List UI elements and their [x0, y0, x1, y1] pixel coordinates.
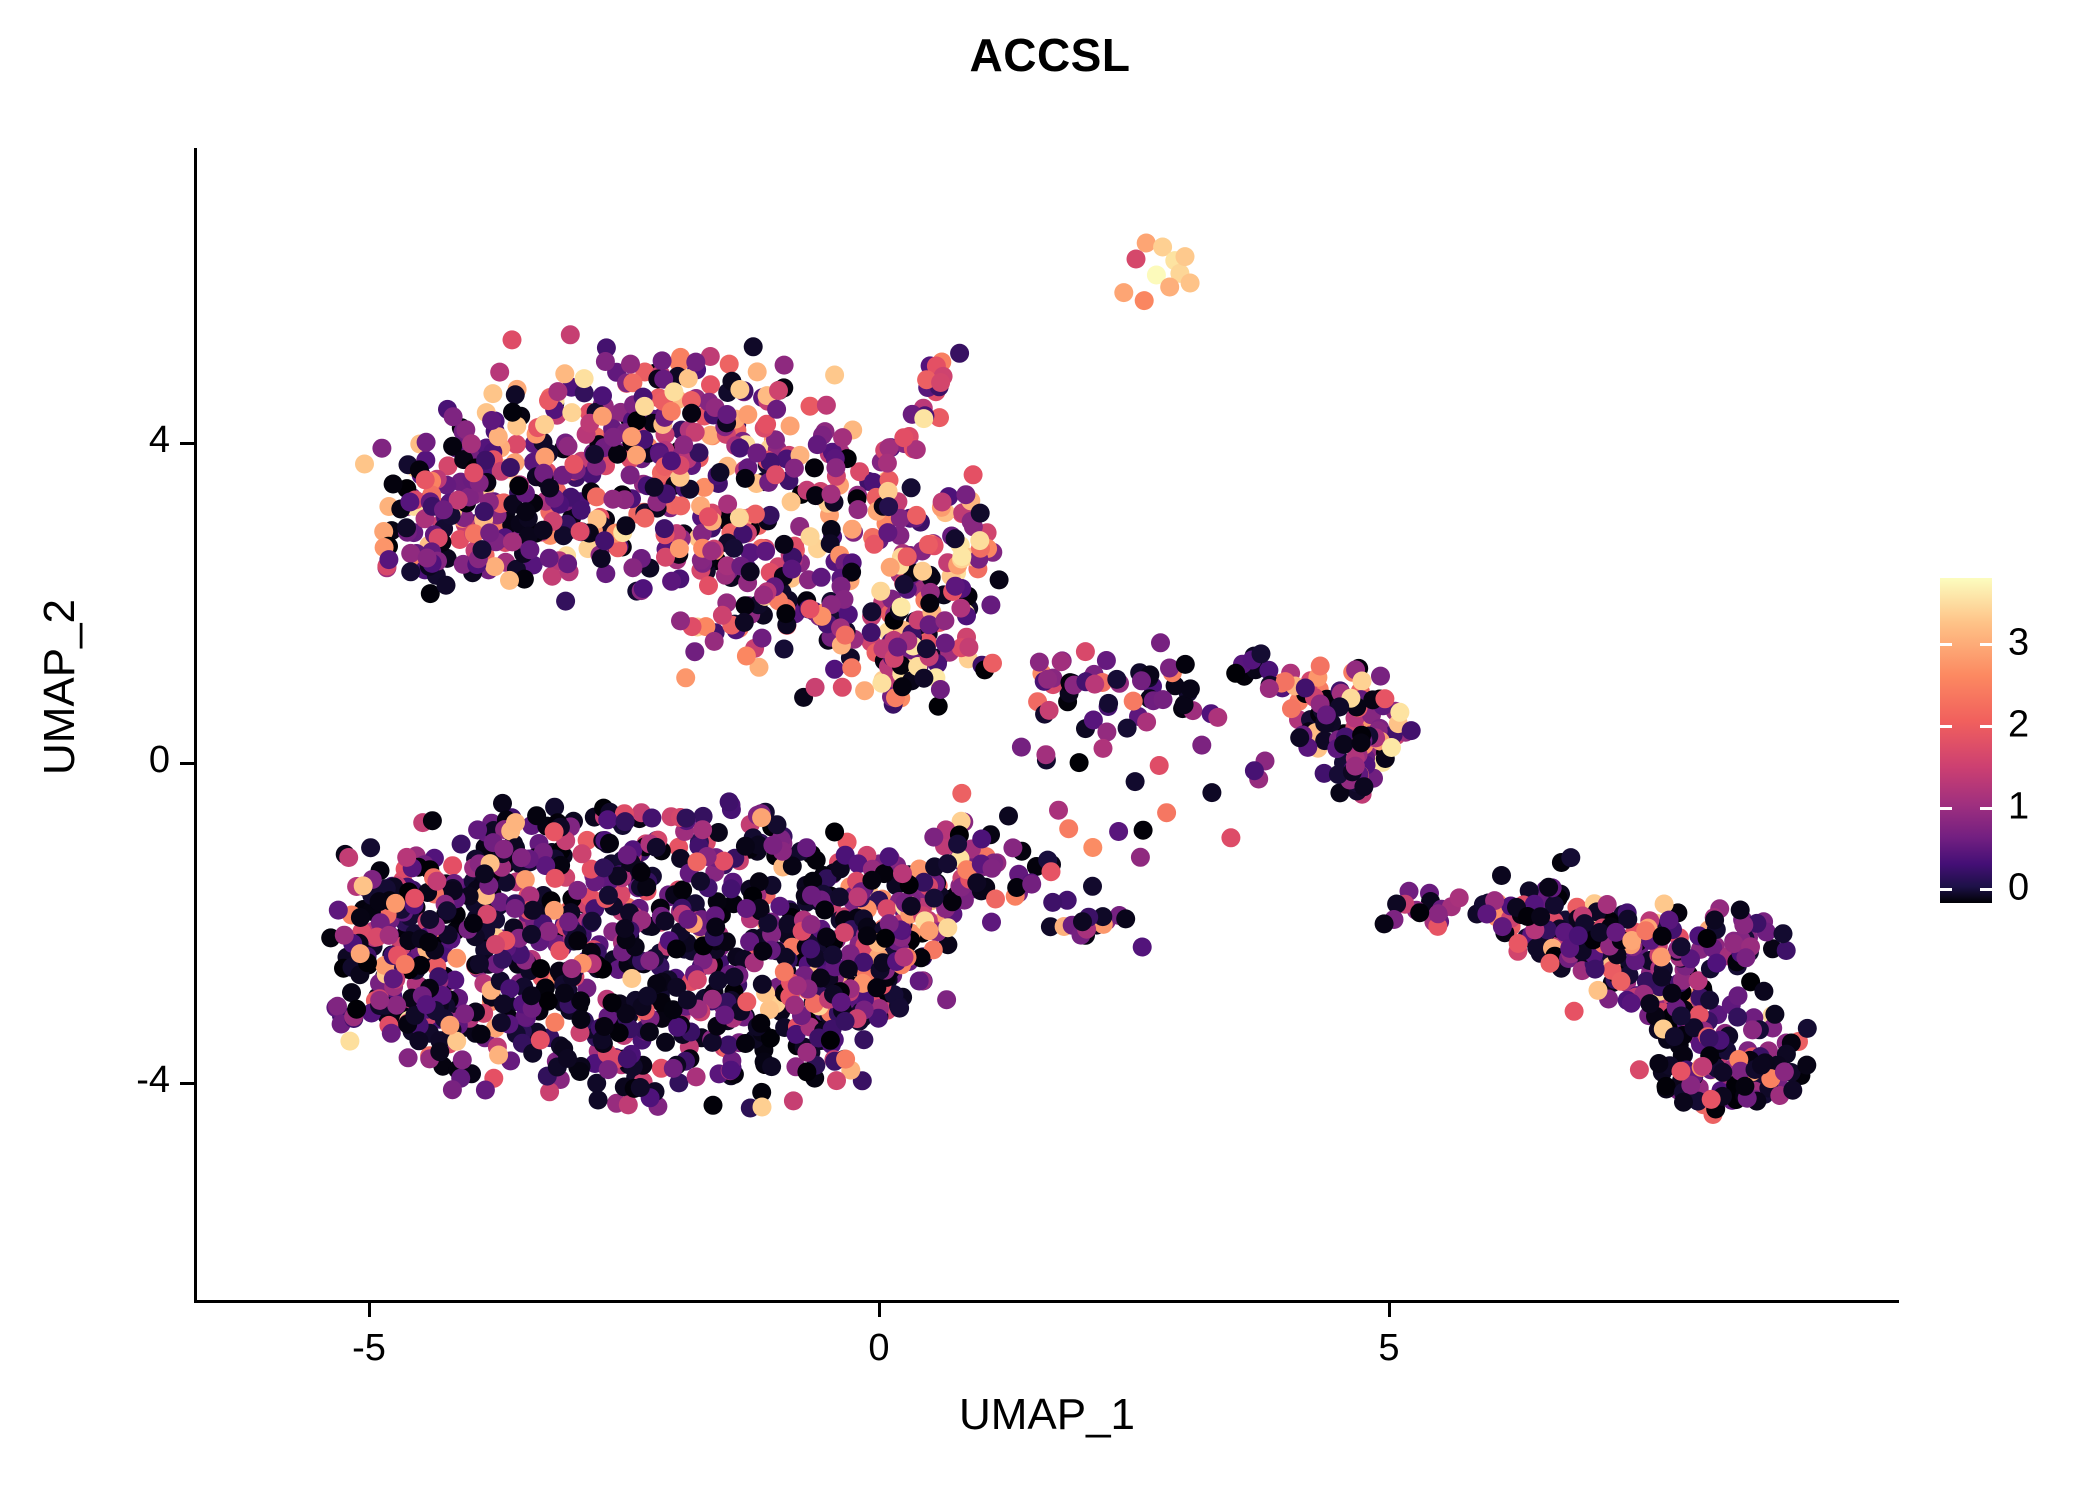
x-axis-tick — [878, 1303, 881, 1317]
colorbar-tick — [1940, 725, 1952, 728]
x-axis-title: UMAP_1 — [196, 1390, 1898, 1440]
y-axis-line — [194, 148, 197, 1303]
colorbar-tick-label: 1 — [2008, 785, 2029, 828]
x-axis-tick — [1388, 1303, 1391, 1317]
scatter-plot-figure: ACCSL -50540-4 UMAP_1 UMAP_2 3210 — [0, 0, 2100, 1500]
y-axis-tick — [180, 762, 194, 765]
y-axis-tick — [180, 442, 194, 445]
colorbar-tick-label: 3 — [2008, 622, 2029, 665]
colorbar-tick — [1980, 643, 1992, 646]
colorbar-tick — [1980, 807, 1992, 810]
colorbar-tick — [1940, 807, 1952, 810]
x-axis-tick-label: 0 — [809, 1327, 949, 1370]
scatter-points-layer — [196, 148, 1898, 1300]
x-axis-tick-label: 5 — [1319, 1327, 1459, 1370]
y-axis-tick — [180, 1082, 194, 1085]
y-axis-tick-label: -4 — [40, 1059, 170, 1102]
colorbar-tick — [1940, 643, 1952, 646]
colorbar-legend: 3210 — [1940, 578, 2090, 903]
colorbar-tick-label: 0 — [2008, 867, 2029, 910]
colorbar-gradient — [1940, 578, 1992, 903]
colorbar-tick — [1940, 888, 1952, 891]
x-axis-line — [194, 1300, 1899, 1303]
x-axis-tick — [368, 1303, 371, 1317]
colorbar-tick-label: 2 — [2008, 703, 2029, 746]
page-title: ACCSL — [0, 28, 2100, 82]
plot-panel — [196, 148, 1898, 1300]
x-axis-tick-label: -5 — [299, 1327, 439, 1370]
y-axis-title: UMAP_2 — [35, 337, 85, 1037]
colorbar-tick — [1980, 888, 1992, 891]
colorbar-tick — [1980, 725, 1992, 728]
